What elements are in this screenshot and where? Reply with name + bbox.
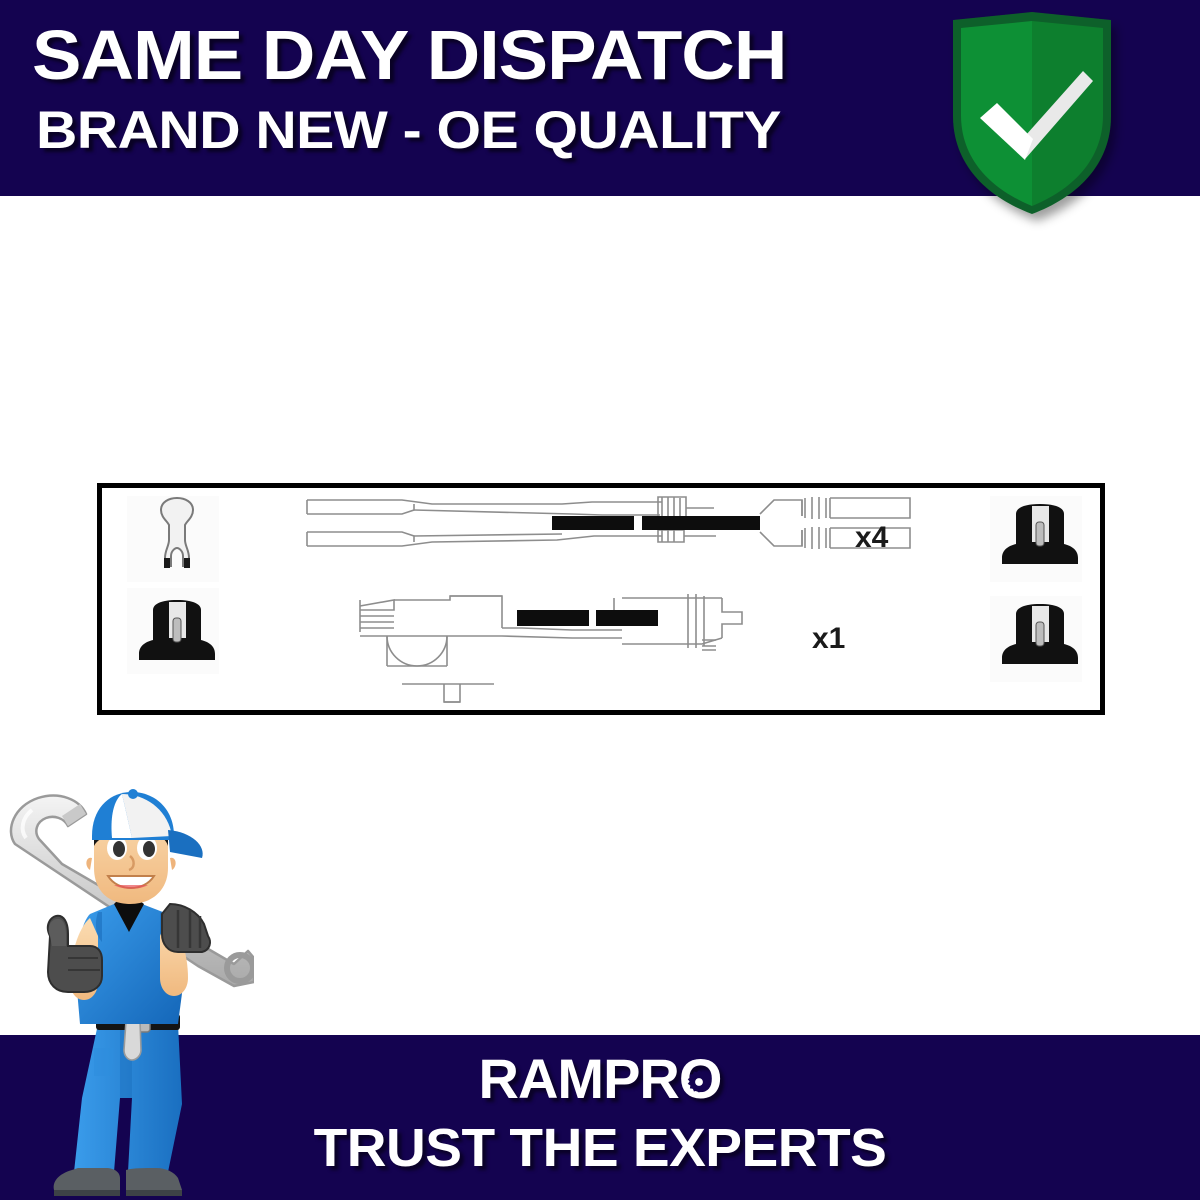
spark-plug-boot-black-icon — [990, 596, 1082, 682]
thumbs-up-arm — [48, 916, 102, 1000]
shield-right-face — [1032, 21, 1103, 206]
mechanic-mascot-illustration — [2, 786, 254, 1200]
spark-plug-boot-black-icon — [127, 588, 219, 674]
cable-segment — [642, 516, 760, 530]
shield-check-badge — [925, 8, 1140, 238]
quantity-label-x4: x4 — [855, 521, 888, 555]
promo-headline: SAME DAY DISPATCH — [32, 18, 786, 92]
product-diagram-panel — [97, 483, 1105, 715]
promo-subheadline: BRAND NEW - OE QUALITY — [36, 102, 781, 160]
cable-segment — [517, 610, 589, 626]
spark-plug-boot-black-icon — [990, 496, 1082, 582]
cable-segment — [552, 516, 634, 530]
boots — [54, 1168, 182, 1196]
ignition-lead-set-drawing — [102, 488, 1100, 710]
spark-plug-boot-outline-icon — [127, 496, 219, 582]
cable-segment — [596, 610, 658, 626]
wrench-holding-arm — [160, 904, 210, 996]
quantity-label-x1: x1 — [812, 622, 845, 656]
brand-name: RAMPRO — [479, 1047, 722, 1110]
